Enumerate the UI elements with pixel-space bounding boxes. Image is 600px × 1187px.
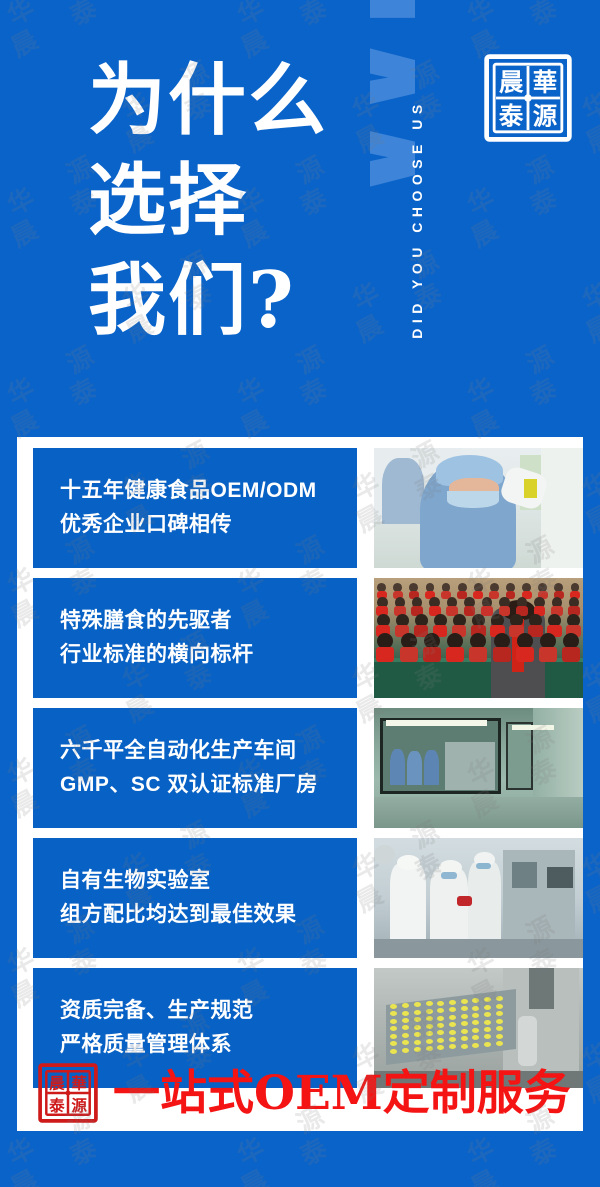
feature-image: [374, 708, 583, 828]
feature-row[interactable]: 自有生物实验室 组方配比均达到最佳效果: [33, 838, 583, 958]
page-title-line-1: 为什么: [88, 62, 378, 140]
feature-line-2: 严格质量管理体系: [60, 1028, 357, 1062]
watermark-text: 华 源 晨 泰: [0, 456, 2, 603]
feature-line-2: 行业标准的横向标杆: [60, 638, 357, 672]
svg-text:華: 華: [71, 1074, 87, 1093]
feature-row[interactable]: 十五年健康食品OEM/ODM 优秀企业口碑相传: [33, 448, 583, 568]
svg-text:泰: 泰: [48, 1096, 65, 1115]
feature-line-2: 组方配比均达到最佳效果: [60, 898, 357, 932]
svg-text:晨: 晨: [49, 1074, 65, 1093]
feature-line-1: 自有生物实验室: [60, 864, 357, 898]
svg-text:源: 源: [533, 101, 558, 130]
feature-image: [374, 838, 583, 958]
vertical-caption: DID YOU CHOOSE US: [404, 20, 430, 418]
features-list: 十五年健康食品OEM/ODM 优秀企业口碑相传 特殊膳食的先驱者 行业标准的横向…: [33, 448, 583, 1098]
feature-line-2: 优秀企业口碑相传: [60, 508, 357, 542]
feature-row[interactable]: 特殊膳食的先驱者 行业标准的横向标杆: [33, 578, 583, 698]
brand-stamp-icon: 晨 華 泰 源: [481, 51, 575, 145]
page-title: 为什么 选择 我们?: [88, 62, 378, 340]
svg-text:源: 源: [71, 1096, 87, 1115]
feature-line-1: 特殊膳食的先驱者: [60, 604, 357, 638]
feature-image: [374, 578, 583, 698]
svg-text:晨: 晨: [499, 67, 524, 96]
watermark-text: 华 源 晨 泰: [0, 646, 2, 793]
features-panel: 十五年健康食品OEM/ODM 优秀企业口碑相传 特殊膳食的先驱者 行业标准的横向…: [17, 437, 583, 1131]
page-title-line-2: 选择: [88, 162, 378, 240]
feature-card[interactable]: 六千平全自动化生产车间 GMP、SC 双认证标准厂房: [33, 708, 357, 828]
feature-line-1: 资质完备、生产规范: [60, 994, 357, 1028]
watermark-text: 华 源 晨 泰: [0, 1026, 2, 1173]
footer-cta[interactable]: 晨 華 泰 源 一站式OEM定制服务: [33, 1062, 583, 1124]
footer-slogan: 一站式OEM定制服务: [113, 1070, 571, 1117]
feature-image: [374, 448, 583, 568]
feature-card[interactable]: 十五年健康食品OEM/ODM 优秀企业口碑相传: [33, 448, 357, 568]
feature-card[interactable]: 自有生物实验室 组方配比均达到最佳效果: [33, 838, 357, 958]
brand-stamp-red-icon: 晨 華 泰 源: [37, 1062, 99, 1124]
vertical-caption-text: DID YOU CHOOSE US: [409, 99, 425, 339]
feature-row[interactable]: 六千平全自动化生产车间 GMP、SC 双认证标准厂房: [33, 708, 583, 828]
feature-card[interactable]: 特殊膳食的先驱者 行业标准的横向标杆: [33, 578, 357, 698]
svg-text:泰: 泰: [499, 101, 524, 130]
feature-line-2: GMP、SC 双认证标准厂房: [60, 768, 357, 802]
hero-section: WHY 为什么 选择 我们? DID YOU CHOOSE US 晨 華 泰 源: [0, 0, 600, 437]
watermark-text: 华 源 晨 泰: [0, 836, 2, 983]
feature-line-1: 十五年健康食品OEM/ODM: [60, 474, 357, 508]
svg-text:華: 華: [533, 67, 557, 96]
page-title-line-3: 我们?: [88, 262, 378, 340]
feature-line-1: 六千平全自动化生产车间: [60, 734, 357, 768]
